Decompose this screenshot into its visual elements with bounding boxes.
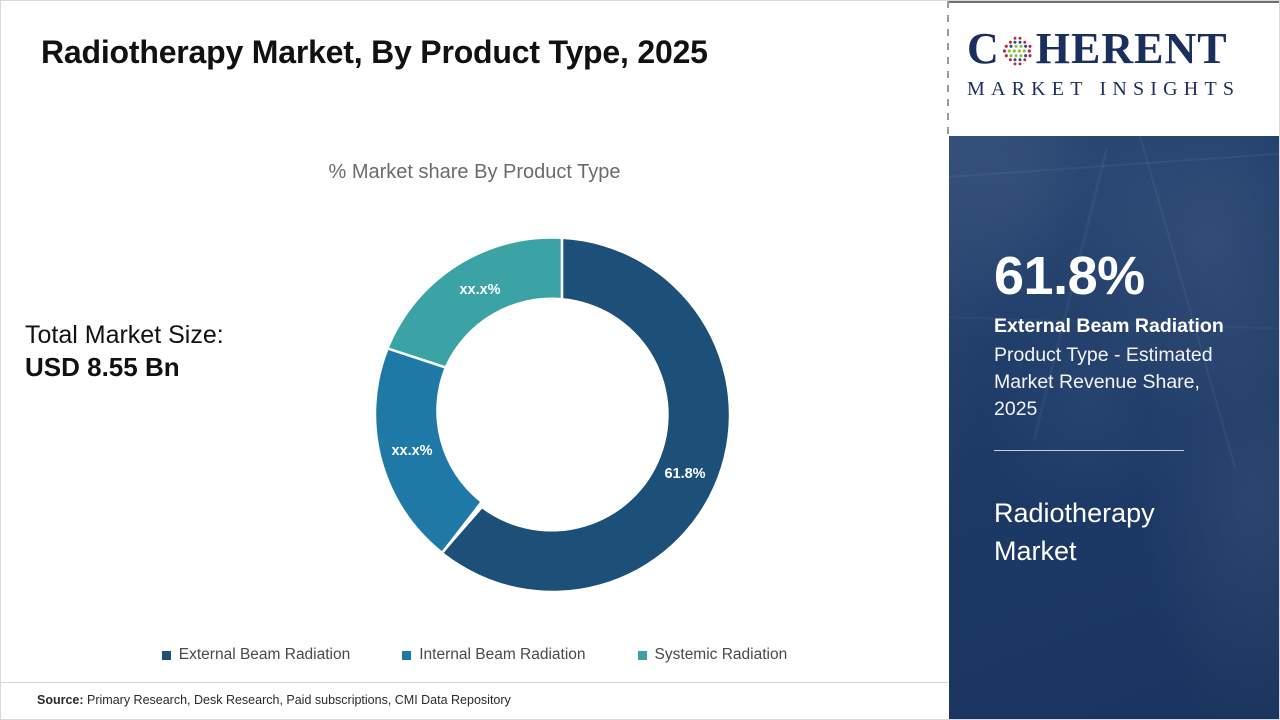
- source-label: Source:: [37, 693, 84, 707]
- logo-tagline: MARKET INSIGHTS: [967, 78, 1267, 101]
- legend-swatch-icon: [162, 651, 171, 660]
- legend-label: Systemic Radiation: [655, 646, 788, 664]
- chart-area: Radiotherapy Market, By Product Type, 20…: [1, 1, 948, 720]
- panel-market-name: Radiotherapy Market: [994, 494, 1234, 571]
- donut-svg: 61.8% xx.x% xx.x%: [376, 229, 748, 601]
- legend-item-internal-beam-radiation[interactable]: Internal Beam Radiation: [402, 646, 585, 664]
- chart-subtitle: % Market share By Product Type: [1, 161, 948, 184]
- brand-logo[interactable]: C: [949, 3, 1280, 136]
- legend-label: External Beam Radiation: [179, 646, 350, 664]
- donut-label-external-beam-radiation: 61.8%: [664, 466, 705, 482]
- total-market-size-value: USD 8.55 Bn: [25, 351, 325, 384]
- page-title: Radiotherapy Market, By Product Type, 20…: [41, 34, 708, 71]
- chart-legend: External Beam Radiation Internal Beam Ra…: [1, 646, 948, 664]
- total-market-size-block: Total Market Size: USD 8.55 Bn: [25, 321, 325, 384]
- legend-item-systemic-radiation[interactable]: Systemic Radiation: [638, 646, 788, 664]
- logo-wordmark: C: [967, 27, 1267, 71]
- panel-streak-decor: [949, 151, 1280, 178]
- source-text: Primary Research, Desk Research, Paid su…: [84, 693, 511, 707]
- legend-swatch-icon: [638, 651, 647, 660]
- source-note: Source: Primary Research, Desk Research,…: [37, 693, 511, 707]
- donut-slice-systemic-radiation[interactable]: [389, 239, 562, 367]
- donut-chart: 61.8% xx.x% xx.x%: [376, 229, 748, 601]
- footer-divider: [1, 682, 948, 683]
- legend-item-external-beam-radiation[interactable]: External Beam Radiation: [162, 646, 350, 664]
- panel-divider: [994, 450, 1184, 451]
- highlight-stat-name: External Beam Radiation: [994, 316, 1280, 338]
- highlight-stat-description: Product Type - Estimated Market Revenue …: [994, 342, 1244, 423]
- highlight-panel: 61.8% External Beam Radiation Product Ty…: [949, 136, 1280, 720]
- donut-label-internal-beam-radiation: xx.x%: [391, 443, 432, 459]
- legend-label: Internal Beam Radiation: [419, 646, 585, 664]
- highlight-stat-percent: 61.8%: [994, 249, 1280, 303]
- logo-word-part1: C: [967, 27, 1000, 71]
- legend-swatch-icon: [402, 651, 411, 660]
- infographic-page: Radiotherapy Market, By Product Type, 20…: [0, 0, 1280, 720]
- total-market-size-label: Total Market Size:: [25, 321, 325, 351]
- logo-word-part2: HERENT: [1036, 27, 1228, 71]
- dotted-globe-icon: [1001, 33, 1035, 67]
- donut-label-systemic-radiation: xx.x%: [459, 282, 500, 298]
